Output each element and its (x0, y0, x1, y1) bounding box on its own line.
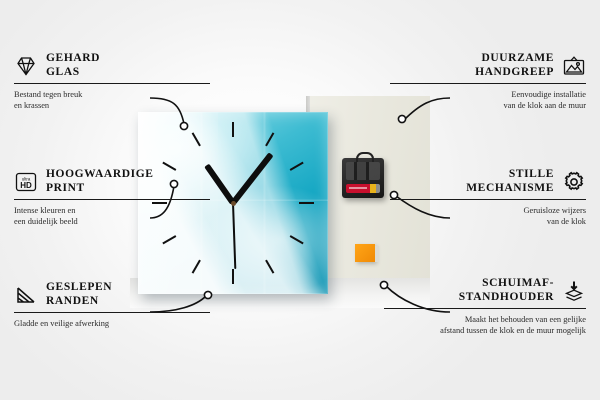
feature-title-line2: RANDEN (46, 295, 112, 309)
battery (346, 184, 380, 193)
feature-title-line1: STILLE (466, 168, 554, 182)
quartz-mechanism (342, 158, 384, 198)
feature-title: SCHUIMAF- STANDHOUDER (459, 277, 554, 304)
feature-description: Gladde en veilige afwerking (14, 318, 210, 329)
feature-title-line1: GESLEPEN (46, 281, 112, 295)
feature-desc-line2: en krassen (14, 100, 210, 111)
feature-schuimaf-standhouder[interactable]: SCHUIMAF- STANDHOUDER Maakt het behouden… (384, 277, 586, 337)
feature-geslepen-randen[interactable]: GESLEPEN RANDEN Gladde en veilige afwerk… (14, 281, 210, 329)
feature-title-line2: HANDGREEP (475, 66, 554, 80)
feature-description: Bestand tegen breuk en krassen (14, 89, 210, 112)
foam-spacer (355, 244, 375, 262)
feature-duurzame-handgreep[interactable]: DUURZAME HANDGREEP Eenvoudige installati… (390, 52, 586, 112)
feature-title-line1: DUURZAME (475, 52, 554, 66)
feature-desc-line1: Maakt het behouden van een gelijke (384, 314, 586, 325)
feature-title: GEHARD GLAS (46, 52, 100, 79)
feature-description: Intense kleuren en een duidelijk beeld (14, 205, 210, 228)
feature-header: DUURZAME HANDGREEP (390, 52, 586, 79)
ultra-hd-icon: ultra HD (14, 170, 38, 194)
stack-arrow-icon (562, 279, 586, 303)
feature-header: GEHARD GLAS (14, 52, 210, 79)
feature-title: HOOGWAARDIGE PRINT (46, 168, 154, 195)
feature-desc-line1: Bestand tegen breuk (14, 89, 210, 100)
feature-title-line1: SCHUIMAF- (459, 277, 554, 291)
mechanism-housing (346, 162, 380, 180)
feature-desc-line2: een duidelijk beeld (14, 216, 210, 227)
feature-title: DUURZAME HANDGREEP (475, 52, 554, 79)
feature-description: Geruisloze wijzers van de klok (390, 205, 586, 228)
feature-rule (384, 308, 586, 309)
picture-frame-icon (562, 54, 586, 78)
feature-rule (14, 199, 210, 200)
feature-title-line2: MECHANISME (466, 182, 554, 196)
feature-desc-line1: Gladde en veilige afwerking (14, 318, 210, 329)
feature-title-line1: HOOGWAARDIGE (46, 168, 154, 182)
feature-desc-line2: afstand tussen de klok en de muur mogeli… (384, 325, 586, 336)
gear-icon (562, 170, 586, 194)
feature-rule (14, 83, 210, 84)
feature-title: GESLEPEN RANDEN (46, 281, 112, 308)
feature-title-line2: GLAS (46, 66, 100, 80)
feature-header: SCHUIMAF- STANDHOUDER (384, 277, 586, 304)
feature-rule (390, 83, 586, 84)
feature-hoogwaardige-print[interactable]: ultra HD HOOGWAARDIGE PRINT Intense kleu… (14, 168, 210, 228)
feature-desc-line1: Intense kleuren en (14, 205, 210, 216)
feature-desc-line2: van de klok (390, 216, 586, 227)
feature-header: ultra HD HOOGWAARDIGE PRINT (14, 168, 210, 195)
svg-text:HD: HD (20, 180, 32, 189)
feature-gehard-glas[interactable]: GEHARD GLAS Bestand tegen breuk en krass… (14, 52, 210, 112)
feature-title: STILLE MECHANISME (466, 168, 554, 195)
feature-rule (390, 199, 586, 200)
feature-desc-line1: Eenvoudige installatie (390, 89, 586, 100)
feature-desc-line2: van de klok aan de muur (390, 100, 586, 111)
infographic-canvas: GEHARD GLAS Bestand tegen breuk en krass… (0, 0, 600, 400)
feature-title-line2: PRINT (46, 182, 154, 196)
feature-desc-line1: Geruisloze wijzers (390, 205, 586, 216)
feature-header: STILLE MECHANISME (390, 168, 586, 195)
feature-description: Eenvoudige installatie van de klok aan d… (390, 89, 586, 112)
feature-rule (14, 312, 210, 313)
beveled-edges-icon (14, 283, 38, 307)
feature-title-line2: STANDHOUDER (459, 291, 554, 305)
feature-stille-mechanisme[interactable]: STILLE MECHANISME Geruisloze wijzers van… (390, 168, 586, 228)
feature-header: GESLEPEN RANDEN (14, 281, 210, 308)
feature-description: Maakt het behouden van een gelijke afsta… (384, 314, 586, 337)
diamond-icon (14, 54, 38, 78)
feature-title-line1: GEHARD (46, 52, 100, 66)
clock-hand-hub (231, 201, 236, 206)
